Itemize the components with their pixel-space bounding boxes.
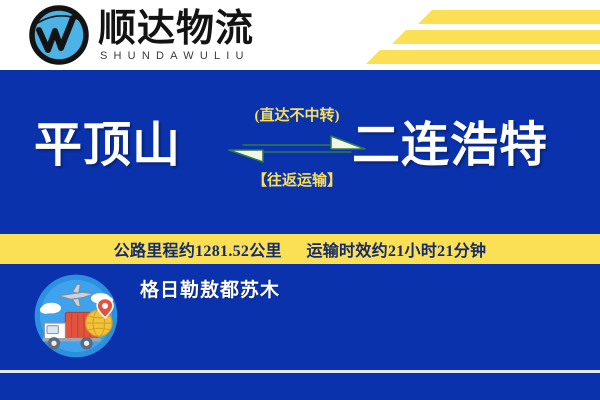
- duration-text: 运输时效约21小时21分钟: [306, 243, 486, 260]
- info-bar: 公路里程约1281.52公里 运输时效约21小时21分钟: [0, 232, 600, 266]
- distance-text: 公路里程约1281.52公里: [114, 243, 282, 260]
- footer-section: 格日勒敖都苏木: [0, 266, 600, 400]
- direct-note: (直达不中转): [222, 106, 372, 126]
- destination-city: 二连浩特: [352, 118, 548, 174]
- stripe-2: [392, 30, 600, 44]
- truck-plane-globe-icon: [32, 272, 120, 360]
- route-middle: (直达不中转) 【往返运输】: [222, 106, 372, 191]
- stripe-1: [418, 10, 600, 24]
- stripe-3: [366, 50, 600, 64]
- destination-detail: 格日勒敖都苏木: [140, 278, 280, 304]
- brand-name-en: SHUNDAWULIU: [98, 49, 254, 63]
- circle-swoosh-logo-icon: [28, 4, 90, 66]
- banner-header: 顺达物流 SHUNDAWULIU: [0, 0, 600, 70]
- brand-text: 顺达物流 SHUNDAWULIU: [98, 7, 254, 63]
- double-headed-arrow-icon: [227, 132, 367, 166]
- brand-name-cn: 顺达物流: [98, 9, 254, 49]
- info-bar-content: 公路里程约1281.52公里 运输时效约21小时21分钟: [114, 237, 487, 261]
- footer-divider: [0, 370, 600, 373]
- origin-city: 平顶山: [34, 118, 181, 174]
- route-section: 平顶山 (直达不中转) 【往返运输】 二连浩特: [0, 70, 600, 230]
- logistics-route-banner: 顺达物流 SHUNDAWULIU 平顶山 (直达不中转) 【往返运输】 二连浩特: [0, 0, 600, 400]
- roundtrip-note: 【往返运输】: [222, 171, 372, 191]
- brand-logo: 顺达物流 SHUNDAWULIU: [28, 4, 254, 66]
- diagonal-stripes-decoration: [330, 0, 600, 70]
